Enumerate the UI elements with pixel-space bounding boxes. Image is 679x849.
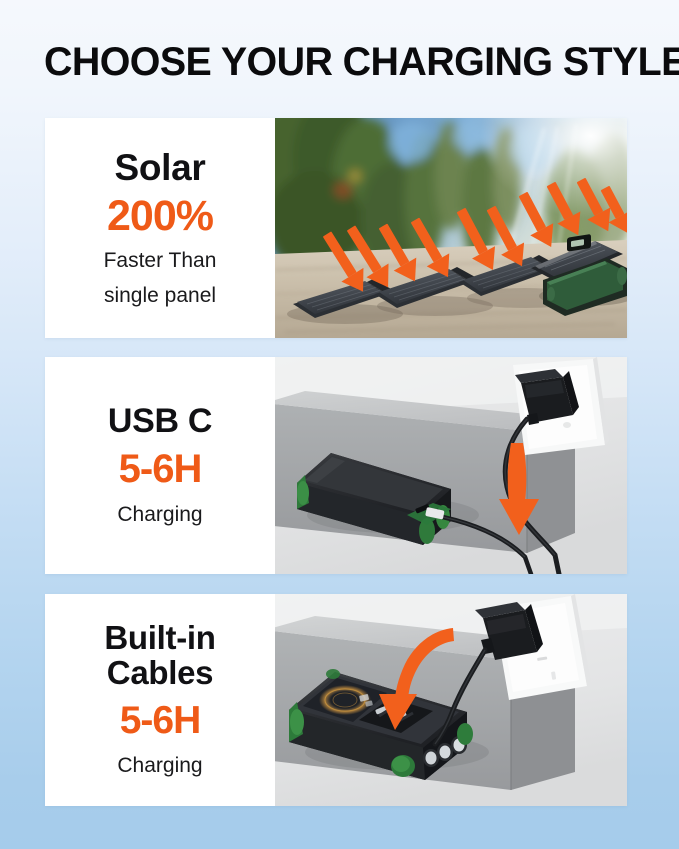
card-title-usb-c: USB C <box>108 403 212 439</box>
feature-card-built-in-cables: Built-in Cables 5-6H Charging <box>45 594 627 806</box>
card-metric-solar: 200% <box>107 194 213 239</box>
card-text-panel-solar: Solar 200% Faster Than single panel <box>45 118 275 338</box>
card-metric-usb-c: 5-6H <box>119 448 202 490</box>
card-subtitle-usb-c: Charging <box>117 503 202 528</box>
card-subtitle-solar-line2: single panel <box>104 284 216 309</box>
card-title-built-in-cables-line1: Built-in <box>104 621 215 656</box>
feature-card-solar: Solar 200% Faster Than single panel <box>45 118 627 338</box>
card-metric-built-in-cables: 5-6H <box>120 701 201 742</box>
page-title: CHOOSE YOUR CHARGING STYLE <box>44 38 645 86</box>
card-title-built-in-cables-line2: Cables <box>107 656 213 691</box>
card-image-built-in-cables <box>275 594 627 806</box>
card-subtitle-built-in-cables: Charging <box>117 754 202 779</box>
feature-card-usb-c: USB C 5-6H Charging <box>45 357 627 574</box>
card-text-panel-usb-c: USB C 5-6H Charging <box>45 357 275 574</box>
card-image-solar <box>275 118 627 338</box>
card-title-solar: Solar <box>114 148 205 187</box>
card-image-usb-c <box>275 357 627 574</box>
card-text-panel-built-in-cables: Built-in Cables 5-6H Charging <box>45 594 275 806</box>
card-subtitle-solar-line1: Faster Than <box>104 249 217 274</box>
